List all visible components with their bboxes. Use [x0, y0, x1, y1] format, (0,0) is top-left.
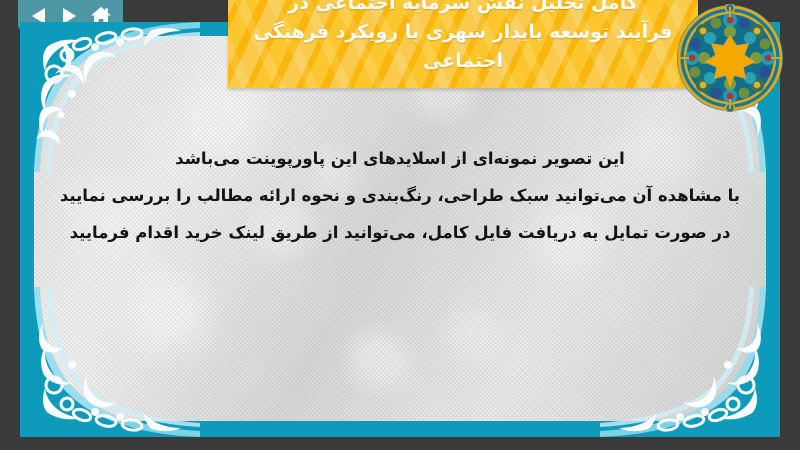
body-line-1: این تصویر نمونه‌ای از اسلایدهای این پاور… — [60, 140, 740, 177]
title-line-3: اجتماعی — [248, 47, 678, 76]
title-line-2: فرآیند توسعه پایدار شهری با رویکرد فرهنگ… — [248, 18, 678, 47]
body-line-3: در صورت تمایل به دریافت فایل کامل، می‌تو… — [60, 214, 740, 251]
slide-body-text: این تصویر نمونه‌ای از اسلایدهای این پاور… — [60, 140, 740, 251]
body-line-2: با مشاهده آن می‌توانید سبک طراحی، رنگ‌بن… — [60, 177, 740, 214]
slide-title-banner: کامل تحلیل نقش سرمایه اجتماعی در فرآیند … — [228, 0, 698, 88]
slide-viewer-chrome: این تصویر نمونه‌ای از اسلایدهای این پاور… — [0, 0, 800, 450]
slide-title: کامل تحلیل نقش سرمایه اجتماعی در فرآیند … — [248, 0, 678, 76]
persian-medallion-ornament-icon — [676, 4, 784, 112]
title-line-1: کامل تحلیل نقش سرمایه اجتماعی در — [248, 0, 678, 18]
